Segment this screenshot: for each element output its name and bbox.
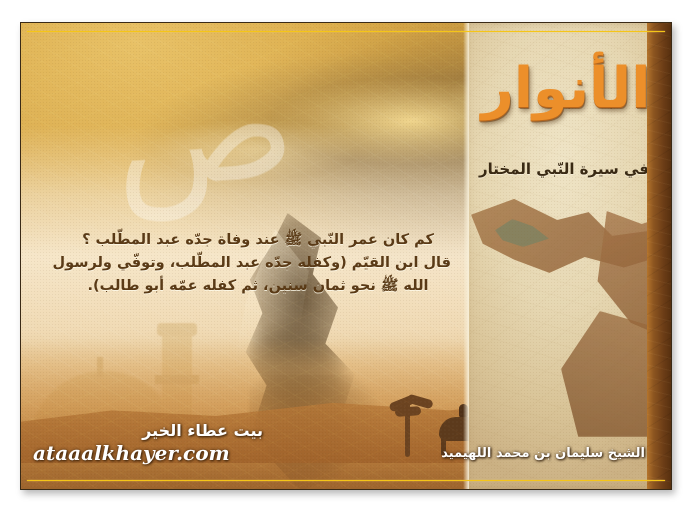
body-line-1: كم كان عمر النّبي ﷺ عند وفاة جدّه عبد ال… <box>65 229 451 252</box>
title-panel: الأنوار في سيرة النّبي المختار <box>469 23 671 489</box>
poster-root: ص <box>0 0 692 512</box>
poster-artwork: ص <box>21 23 671 489</box>
top-rule-line <box>27 31 665 32</box>
brand-watermark: بيت عطاء الخير ataaalkhayer.com <box>33 421 263 465</box>
body-line-3: الله ﷺ نحو ثمان سنين، ثم كفله عمّه أبو ط… <box>65 275 451 298</box>
poster-subtitle: في سيرة النّبي المختار <box>469 159 659 179</box>
right-edge-strip <box>647 23 671 489</box>
poster-frame: ص <box>20 22 672 490</box>
brand-name-arabic: بيت عطاء الخير <box>83 421 263 440</box>
brand-website-url[interactable]: ataaalkhayer.com <box>33 441 263 465</box>
poster-title: الأنوار <box>469 57 663 121</box>
body-line-2: قال ابن القيّم (وكفله جدّه عبد المطّلب، … <box>65 252 451 275</box>
author-credit: الشيخ سليمان بن محمد اللهيميد <box>441 446 645 461</box>
poster-body-text: كم كان عمر النّبي ﷺ عند وفاة جدّه عبد ال… <box>65 229 451 298</box>
bottom-rule-line <box>27 480 665 481</box>
